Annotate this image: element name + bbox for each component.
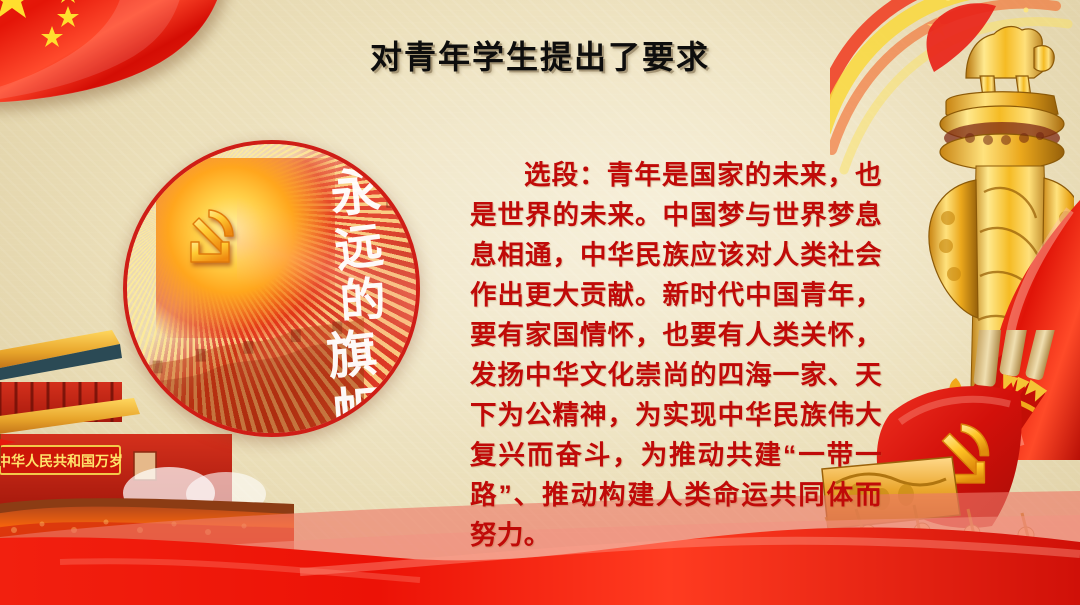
circle-feature-image[interactable]: 永 远 的 旗 帜 — [123, 140, 420, 437]
slide-canvas: 中华人民共和国万岁 — [0, 0, 1080, 605]
page-title: 对青年学生提出了要求 — [0, 32, 1080, 78]
svg-text:帜: 帜 — [331, 380, 386, 434]
body-paragraph: 选段：青年是国家的未来，也是世界的未来。中国梦与世界梦息息相通，中华民族应该对人… — [470, 155, 882, 555]
svg-text:永: 永 — [328, 162, 383, 224]
circle-image-layers: 永 远 的 旗 帜 — [127, 144, 416, 433]
svg-text:旗: 旗 — [324, 324, 380, 387]
svg-text:的: 的 — [338, 272, 388, 329]
svg-text:远: 远 — [332, 217, 386, 278]
artist-seal-icon — [386, 182, 402, 208]
tiananmen-banner-text: 中华人民共和国万岁 — [0, 453, 123, 470]
cpc-hammer-sickle-emblem-icon — [175, 202, 249, 276]
